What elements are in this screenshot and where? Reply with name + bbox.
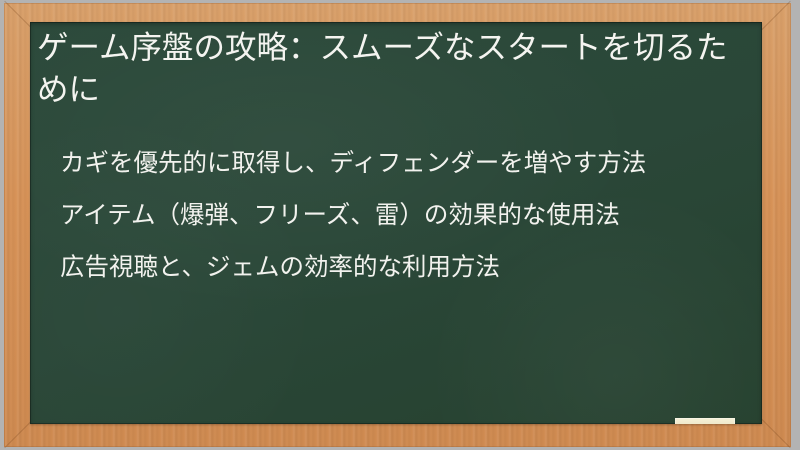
bullet-item: カギを優先的に取得し、ディフェンダーを増やす方法 — [60, 146, 750, 181]
chalk-eraser — [675, 418, 735, 424]
bullet-item: 広告視聴と、ジェムの効率的な利用方法 — [60, 250, 750, 285]
chalkboard-slide: ゲーム序盤の攻略：スムーズなスタートを切るために カギを優先的に取得し、ディフェ… — [0, 0, 800, 450]
slide-title: ゲーム序盤の攻略：スムーズなスタートを切るために — [37, 27, 753, 111]
bullet-list: カギを優先的に取得し、ディフェンダーを増やす方法 アイテム（爆弾、フリーズ、雷）… — [60, 146, 750, 284]
chalkboard-surface: ゲーム序盤の攻略：スムーズなスタートを切るために カギを優先的に取得し、ディフェ… — [30, 22, 762, 424]
bullet-item: アイテム（爆弾、フリーズ、雷）の効果的な使用法 — [60, 198, 750, 233]
chalkboard-content: ゲーム序盤の攻略：スムーズなスタートを切るために カギを優先的に取得し、ディフェ… — [30, 22, 762, 424]
